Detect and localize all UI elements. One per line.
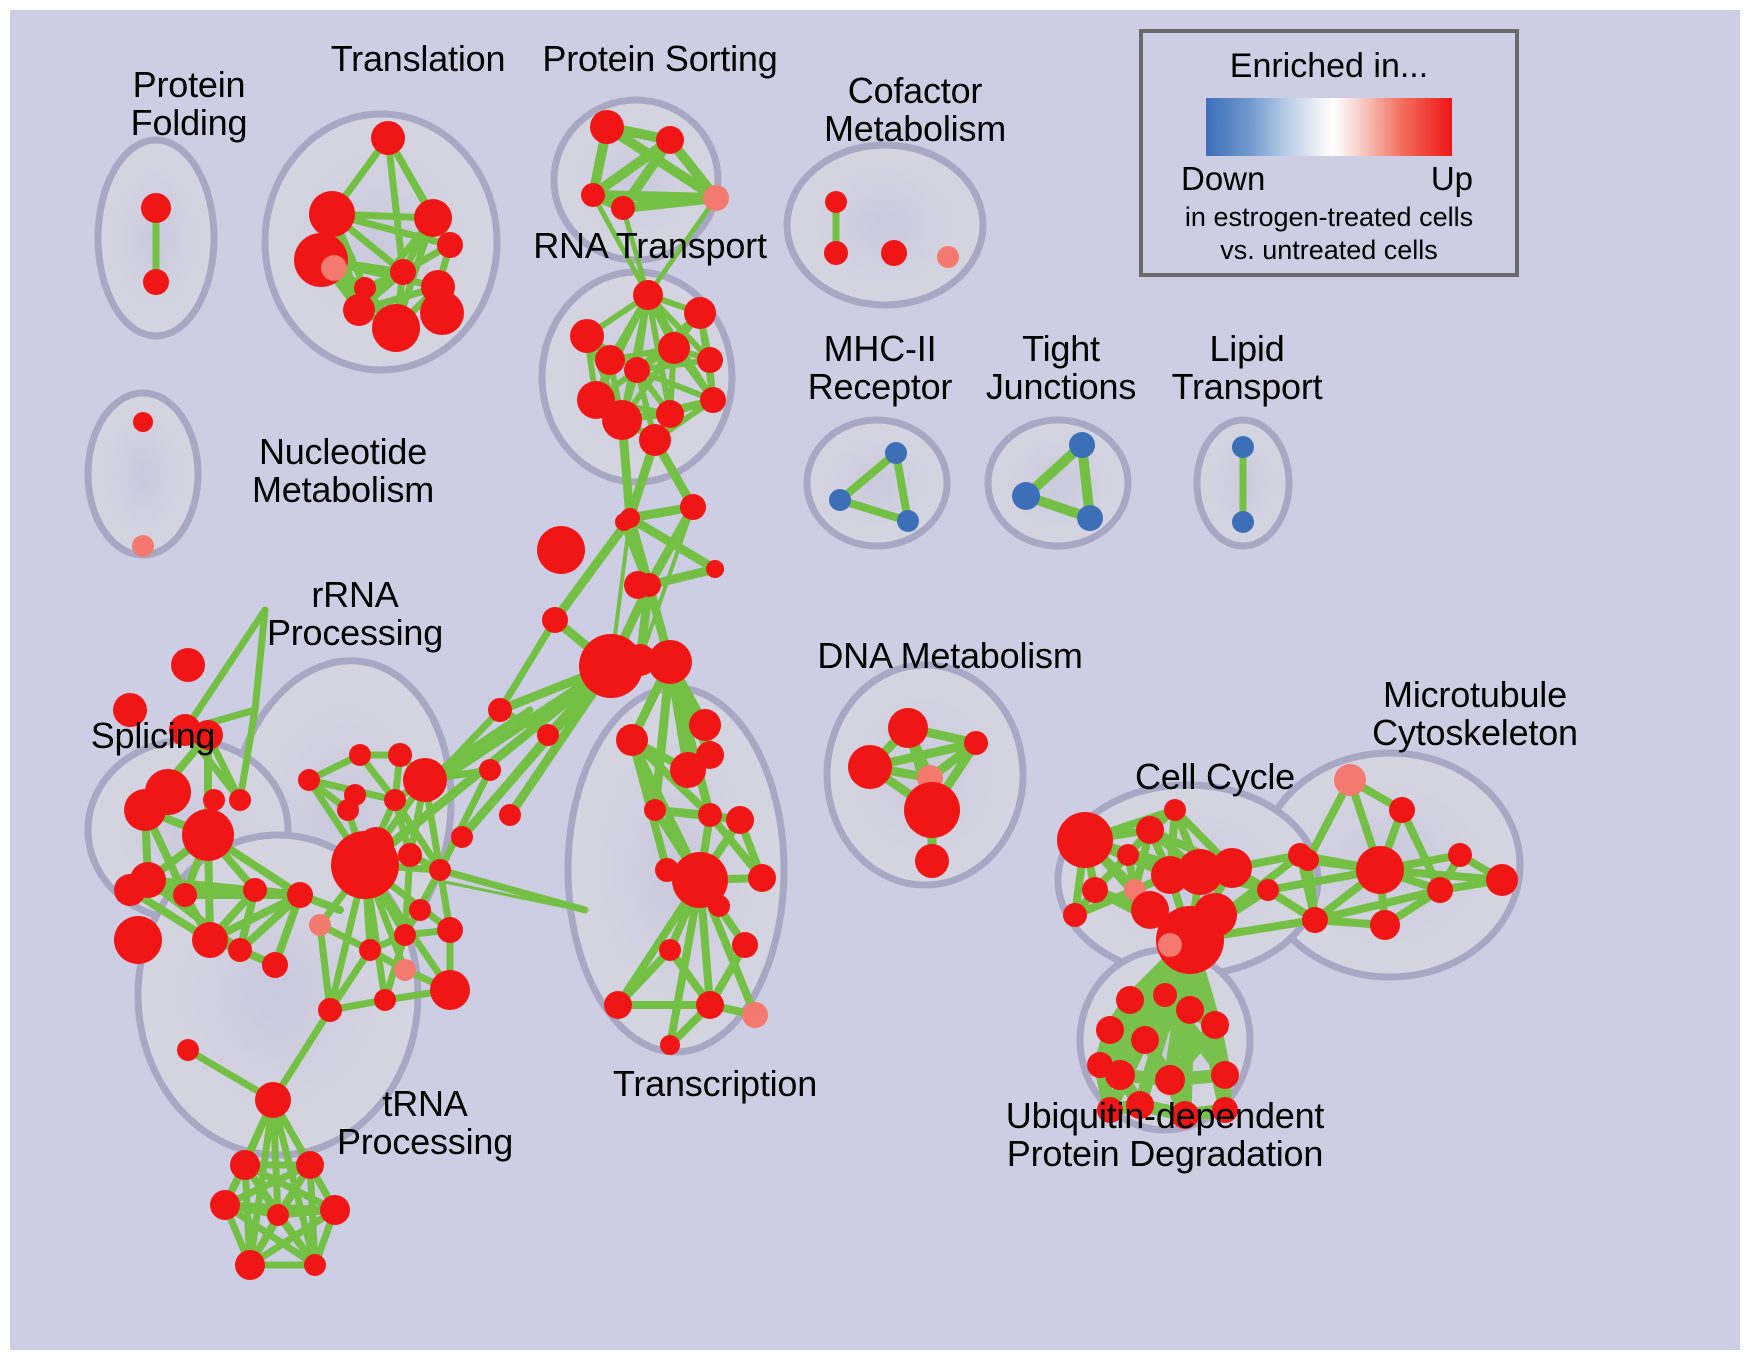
- legend-down-label: Down: [1181, 160, 1265, 198]
- envelope-mhc-ii: [807, 420, 947, 546]
- legend-panel: Enriched in... Down Up in estrogen-treat…: [1139, 29, 1519, 277]
- figure-root: Protein Folding Translation Protein Sort…: [0, 0, 1750, 1360]
- network-canvas: Protein Folding Translation Protein Sort…: [10, 10, 1740, 1350]
- envelope-tight-junctions: [988, 420, 1128, 546]
- envelope-cofactor: [787, 145, 983, 305]
- legend-caption-line-2: vs. untreated cells: [1143, 235, 1515, 266]
- legend-color-gradient-bar: [1206, 98, 1452, 156]
- nodes-backbone: [537, 494, 724, 698]
- legend-up-label: Up: [1431, 160, 1473, 198]
- legend-title: Enriched in...: [1143, 47, 1515, 86]
- legend-caption-line-1: in estrogen-treated cells: [1143, 202, 1515, 233]
- edges-long-link: [445, 882, 580, 910]
